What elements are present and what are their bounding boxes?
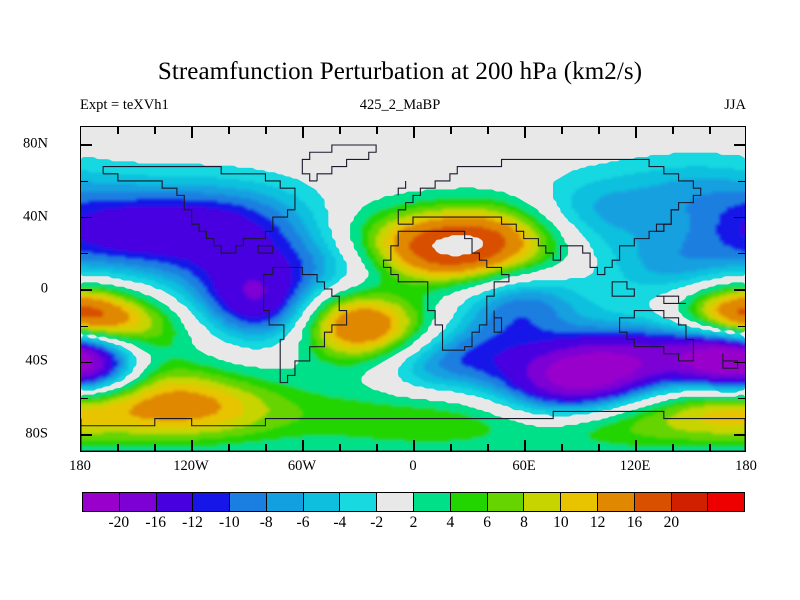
x-axis-tick: [487, 127, 488, 134]
y-axis-tick: [81, 181, 88, 182]
y-axis-tick: [81, 326, 88, 327]
colorbar-tick-label: 6: [483, 514, 491, 532]
x-axis-tick: [450, 444, 451, 451]
x-tick-label: 0: [409, 458, 416, 475]
y-axis-tick: [738, 253, 745, 254]
colorbar-cell: [635, 493, 672, 511]
y-axis-tick: [81, 362, 92, 363]
x-axis-tick: [265, 444, 266, 451]
x-axis-tick: [561, 444, 562, 451]
colorbar-tick-label: -2: [370, 514, 383, 532]
x-axis-tick: [598, 444, 599, 451]
y-axis-tick: [738, 181, 745, 182]
colorbar-tick-label: -8: [260, 514, 273, 532]
colorbar-tick-label: 8: [520, 514, 528, 532]
x-axis-tick: [154, 127, 155, 134]
colorbar-tick-label: -6: [297, 514, 310, 532]
x-tick-label: 60W: [288, 458, 316, 475]
x-axis-tick: [413, 440, 414, 451]
colorbar-cell: [267, 493, 304, 511]
y-axis-tick: [81, 434, 92, 435]
colorbar-cell: [451, 493, 488, 511]
x-axis-tick: [265, 127, 266, 134]
colorbar-tick-label: 10: [553, 514, 569, 532]
x-tick-label: 180: [735, 458, 757, 475]
colorbar-cell: [230, 493, 267, 511]
colorbar-cell: [561, 493, 598, 511]
colorbar: [82, 492, 745, 512]
colorbar-cell: [340, 493, 377, 511]
y-axis-tick: [734, 144, 745, 145]
x-axis-tick: [339, 127, 340, 134]
y-axis-tick: [81, 144, 92, 145]
colorbar-cell: [120, 493, 157, 511]
x-axis-tick: [117, 444, 118, 451]
header-case-id: 425_2_MaBP: [0, 97, 800, 114]
y-tick-label: 80S: [0, 425, 48, 442]
colorbar-cell: [524, 493, 561, 511]
figure-root: Streamfunction Perturbation at 200 hPa (…: [0, 0, 800, 600]
y-axis-tick: [81, 253, 88, 254]
colorbar-tick-label: 2: [410, 514, 418, 532]
colorbar-cell: [304, 493, 341, 511]
x-axis-tick: [487, 444, 488, 451]
colorbar-tick-label: -10: [219, 514, 240, 532]
x-axis-tick: [302, 127, 303, 138]
x-axis-tick: [598, 127, 599, 134]
y-tick-label: 40N: [0, 208, 48, 225]
x-tick-label: 60E: [512, 458, 535, 475]
y-tick-label: 40S: [0, 353, 48, 370]
x-axis-tick: [635, 440, 636, 451]
header-season: JJA: [724, 97, 746, 114]
colorbar-cell: [377, 493, 414, 511]
colorbar-tick-label: -4: [333, 514, 346, 532]
contour-fill-layer: [81, 127, 745, 451]
y-axis-tick: [81, 289, 92, 290]
colorbar-tick-label: 20: [664, 514, 680, 532]
colorbar-cell: [488, 493, 525, 511]
colorbar-tick-label: -12: [182, 514, 203, 532]
page-title: Streamfunction Perturbation at 200 hPa (…: [0, 58, 800, 86]
x-axis-tick: [709, 127, 710, 134]
y-axis-tick: [81, 398, 88, 399]
x-axis-tick: [376, 127, 377, 134]
colorbar-cell: [193, 493, 230, 511]
y-tick-label: 0: [0, 281, 48, 298]
x-tick-label: 120W: [173, 458, 208, 475]
colorbar-cell: [157, 493, 194, 511]
y-axis-tick: [81, 217, 92, 218]
x-axis-tick: [672, 444, 673, 451]
x-axis-tick: [524, 127, 525, 138]
x-tick-label: 120E: [620, 458, 651, 475]
y-axis-tick: [734, 434, 745, 435]
contour-plot-axes: [80, 126, 746, 452]
y-axis-tick: [738, 398, 745, 399]
x-axis-tick: [228, 444, 229, 451]
x-axis-tick: [561, 127, 562, 134]
colorbar-cell: [414, 493, 451, 511]
x-axis-tick: [191, 440, 192, 451]
colorbar-cell: [83, 493, 120, 511]
x-axis-tick: [672, 127, 673, 134]
x-axis-tick: [450, 127, 451, 134]
y-axis-tick: [734, 217, 745, 218]
x-axis-tick: [709, 444, 710, 451]
x-axis-tick: [524, 440, 525, 451]
x-tick-label: 180: [69, 458, 91, 475]
colorbar-tick-label: -16: [145, 514, 166, 532]
colorbar-tick-label: -20: [108, 514, 129, 532]
colorbar-tick-label: 12: [590, 514, 606, 532]
y-axis-tick: [734, 362, 745, 363]
colorbar-tick-label: 16: [627, 514, 643, 532]
x-axis-tick: [635, 127, 636, 138]
y-axis-tick: [738, 326, 745, 327]
x-axis-tick: [413, 127, 414, 138]
x-axis-tick: [191, 127, 192, 138]
colorbar-cell: [708, 493, 744, 511]
x-axis-tick: [117, 127, 118, 134]
y-tick-label: 80N: [0, 136, 48, 153]
colorbar-cell: [598, 493, 635, 511]
colorbar-tick-labels: -20-16-12-10-8-6-4-2246810121620: [82, 514, 745, 536]
y-axis-tick: [734, 289, 745, 290]
x-axis-tick: [302, 440, 303, 451]
colorbar-tick-label: 4: [446, 514, 454, 532]
x-axis-tick: [154, 444, 155, 451]
colorbar-cell: [672, 493, 709, 511]
x-axis-tick: [376, 444, 377, 451]
x-axis-tick: [228, 127, 229, 134]
x-axis-tick: [339, 444, 340, 451]
